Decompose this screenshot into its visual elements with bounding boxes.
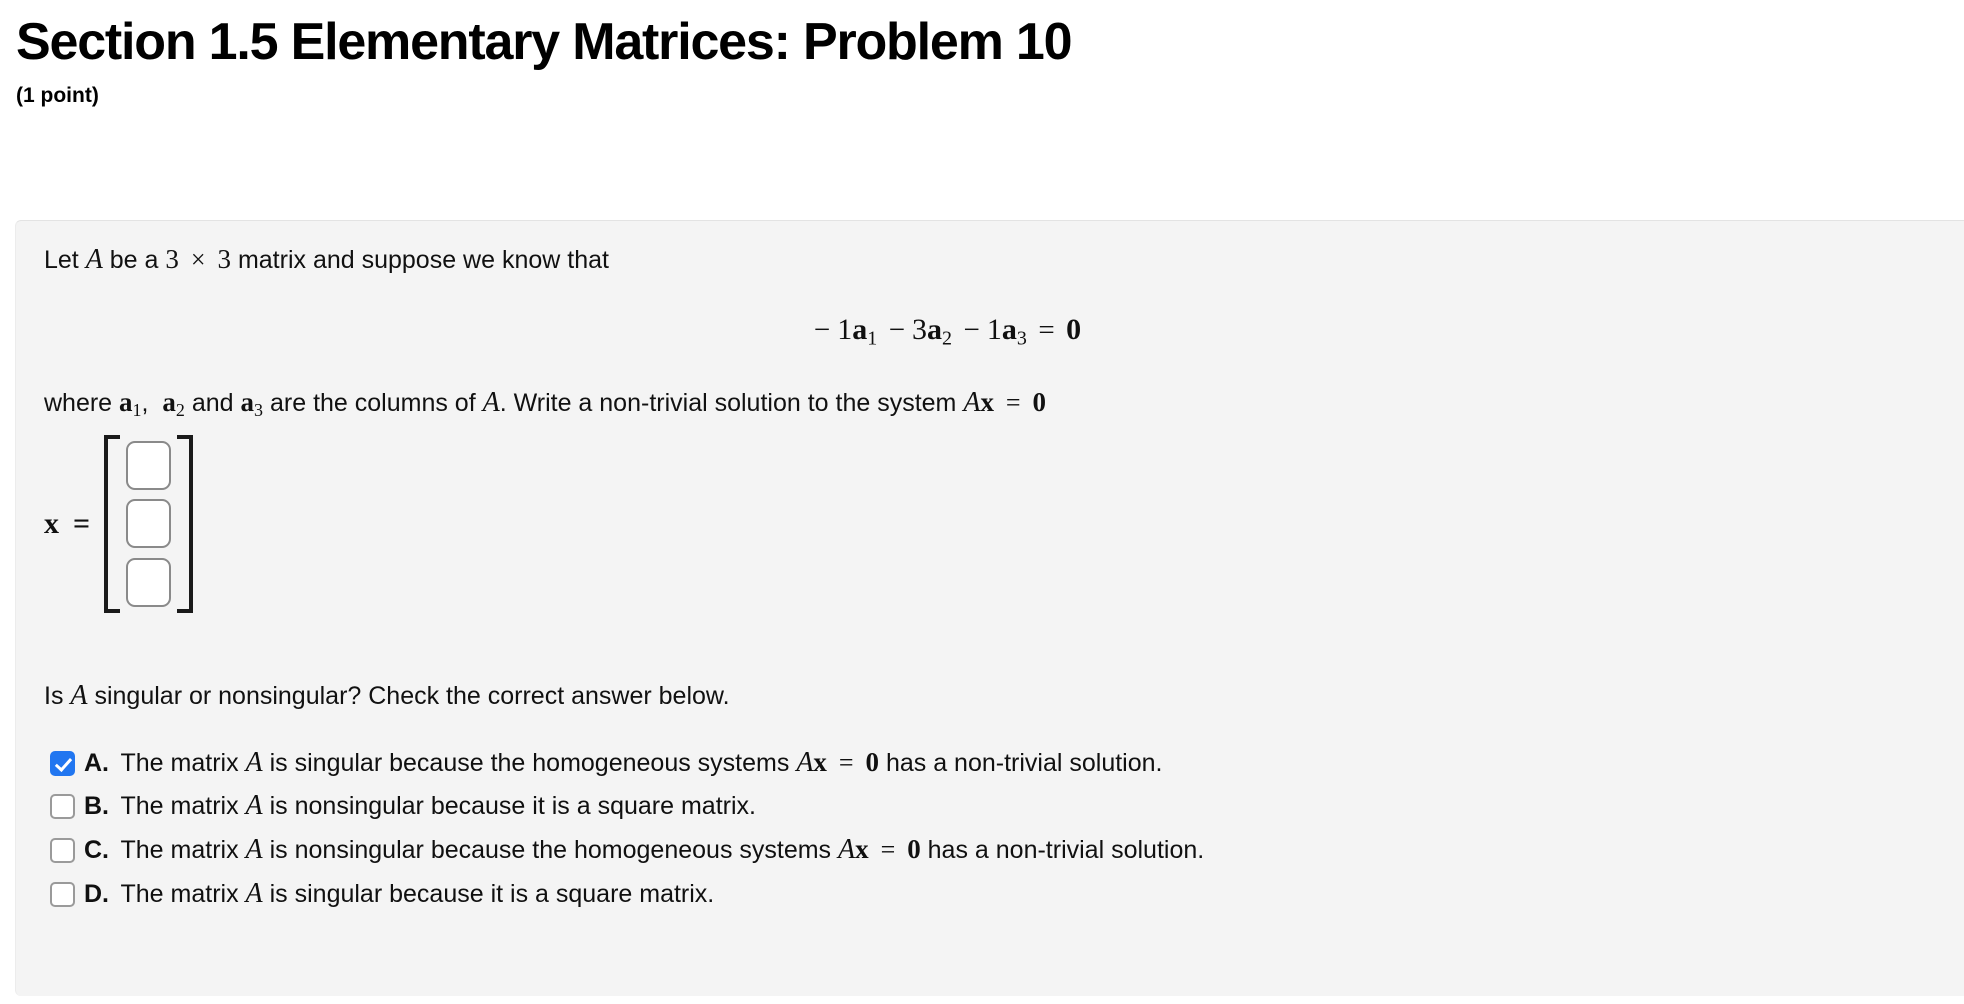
choice-a-mid: is singular because the homogeneous syst…: [270, 749, 790, 777]
answer-matrix: [104, 435, 193, 613]
choice-c-mid: is nonsingular because the homogeneous s…: [270, 836, 831, 864]
answer-input-x1[interactable]: [126, 441, 171, 490]
choice-d-matrix-A: A: [246, 878, 263, 909]
column-subscript-3: 3: [254, 400, 263, 420]
choice-row-a[interactable]: A. The matrix A is singular because the …: [44, 745, 1964, 781]
bracket-left-icon: [104, 435, 120, 613]
problem-panel: Let A be a 3 × 3 matrix and suppose we k…: [15, 220, 1964, 996]
page-title: Section 1.5 Elementary Matrices: Problem…: [16, 14, 1964, 70]
choice-row-c[interactable]: C. The matrix A is nonsingular because t…: [44, 832, 1964, 868]
problem-statement: Let A be a 3 × 3 matrix and suppose we k…: [44, 241, 1964, 279]
question-matrix-A: A: [70, 680, 87, 711]
equation-vector-a1: a: [852, 313, 867, 346]
choice-c-text: C. The matrix A is nonsingular because t…: [84, 832, 1204, 868]
choice-c-system-x: x: [855, 834, 869, 864]
statement-post: matrix and suppose we know that: [238, 246, 609, 274]
where-post: . Write a non-trivial solution to the sy…: [500, 389, 957, 417]
choice-a-system-x: x: [813, 747, 827, 777]
checkbox-c[interactable]: [50, 838, 75, 863]
equation-coef-1: 1: [837, 313, 852, 346]
checkbox-b[interactable]: [50, 794, 75, 819]
choice-b-pre: The matrix: [121, 792, 239, 820]
dimension-cols: 3: [217, 244, 231, 274]
choice-a-system-A: A: [796, 747, 813, 778]
choice-c-matrix-A: A: [246, 834, 263, 865]
choice-b-mid: is nonsingular because it is a square ma…: [270, 792, 756, 820]
choice-a-system-equals: =: [834, 748, 859, 777]
checkbox-d[interactable]: [50, 882, 75, 907]
choice-a-matrix-A: A: [246, 747, 263, 778]
where-mid: are the columns of: [270, 389, 476, 417]
equation-subscript-3: 3: [1017, 327, 1027, 349]
column-vector-a1: a: [119, 387, 133, 417]
choice-c-letter: C.: [84, 836, 109, 864]
choice-c-system-A: A: [838, 834, 855, 865]
dimension-rows: 3: [165, 244, 179, 274]
singular-question: Is A singular or nonsingular? Check the …: [44, 677, 1964, 715]
choice-d-pre: The matrix: [121, 880, 239, 908]
equation-op-1: −: [882, 314, 912, 346]
column-subscript-1: 1: [133, 400, 142, 420]
vector-answer-row: x =: [44, 429, 1964, 619]
vector-x-label: x: [44, 507, 59, 541]
choice-a-system-zero: 0: [866, 747, 880, 777]
point-value: (1 point): [16, 84, 1964, 108]
equation-vector-a2: a: [927, 313, 942, 346]
column-vector-a3: a: [241, 387, 255, 417]
equation-subscript-1: 1: [867, 327, 877, 349]
choice-a-letter: A.: [84, 749, 109, 777]
equation-sign-1: −: [807, 314, 837, 346]
equation-zero-vector: 0: [1066, 313, 1081, 346]
choice-b-text: B. The matrix A is nonsingular because i…: [84, 788, 756, 824]
choice-c-system-zero: 0: [907, 834, 921, 864]
system-equals: =: [1001, 388, 1026, 417]
choice-row-d[interactable]: D. The matrix A is singular because it i…: [44, 876, 1964, 912]
where-comma: ,: [142, 389, 149, 417]
times-symbol: ×: [186, 245, 211, 274]
choice-a-post: has a non-trivial solution.: [886, 749, 1163, 777]
equation-vector-a3: a: [1002, 313, 1017, 346]
equation-coef-2: 3: [912, 313, 927, 346]
choice-row-b[interactable]: B. The matrix A is nonsingular because i…: [44, 788, 1964, 824]
system-vector-x: x: [980, 387, 994, 417]
choice-b-matrix-A: A: [246, 790, 263, 821]
checkbox-a[interactable]: [50, 751, 75, 776]
choice-a-pre: The matrix: [121, 749, 239, 777]
equation-subscript-2: 2: [942, 327, 952, 349]
question-post: singular or nonsingular? Check the corre…: [94, 682, 729, 710]
where-label: where: [44, 389, 112, 417]
vector-equals-label: =: [73, 507, 90, 541]
equation-equals: =: [1031, 314, 1061, 346]
statement-mid: be a: [110, 246, 159, 274]
choice-c-system-equals: =: [876, 835, 901, 864]
equation-coef-3: 1: [987, 313, 1002, 346]
answer-input-x2[interactable]: [126, 499, 171, 548]
choice-d-mid: is singular because it is a square matri…: [270, 880, 715, 908]
display-equation: −1a1 −3a2 −1a3 = 0: [34, 313, 1964, 351]
equation-op-2: −: [957, 314, 987, 346]
column-subscript-2: 2: [176, 400, 185, 420]
answer-cells: [120, 435, 177, 613]
statement-pre: Let: [44, 246, 79, 274]
where-matrix-A: A: [483, 387, 500, 418]
choice-d-text: D. The matrix A is singular because it i…: [84, 876, 714, 912]
choice-c-post: has a non-trivial solution.: [928, 836, 1205, 864]
choice-b-letter: B.: [84, 792, 109, 820]
answer-input-x3[interactable]: [126, 558, 171, 607]
matrix-A-symbol: A: [86, 244, 103, 275]
question-pre: Is: [44, 682, 63, 710]
bracket-right-icon: [177, 435, 193, 613]
page-header: Section 1.5 Elementary Matrices: Problem…: [0, 0, 1964, 108]
choice-a-text: A. The matrix A is singular because the …: [84, 745, 1163, 781]
system-matrix-A: A: [963, 387, 980, 418]
where-and: and: [192, 389, 234, 417]
answer-choices: A. The matrix A is singular because the …: [44, 745, 1964, 912]
column-vector-a2: a: [162, 387, 176, 417]
choice-c-pre: The matrix: [121, 836, 239, 864]
choice-d-letter: D.: [84, 880, 109, 908]
where-line: where a1, a2 and a3 are the columns of A…: [44, 384, 1964, 422]
system-zero-vector: 0: [1033, 387, 1047, 417]
